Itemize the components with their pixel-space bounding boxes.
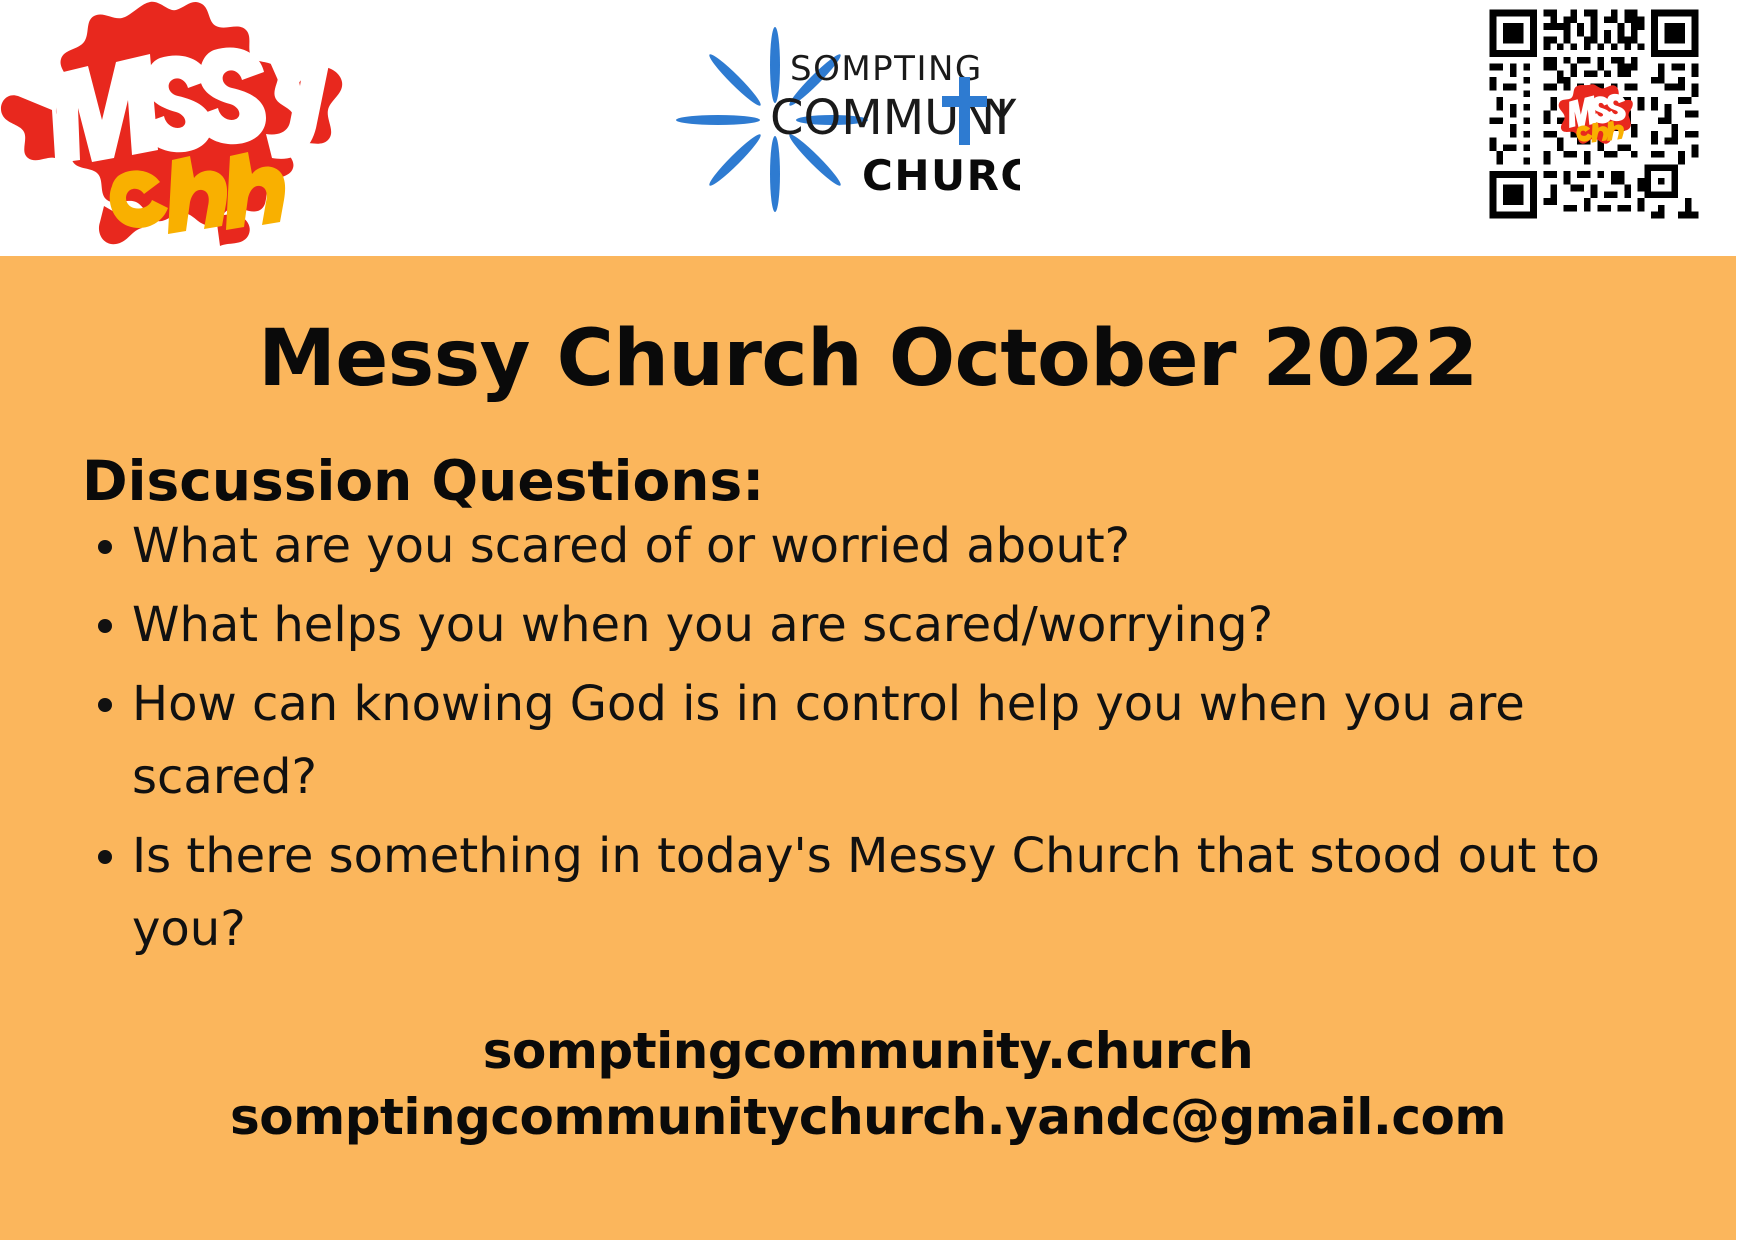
sompting-community-church-logo: SOMPTING COMMUNI Y CHURCH <box>600 22 1020 212</box>
qr-center-messy-church-logo <box>1555 83 1633 145</box>
messy-church-logo <box>0 0 345 250</box>
header-band: SOMPTING COMMUNI Y CHURCH <box>0 0 1748 256</box>
list-item: What helps you when you are scared/worry… <box>96 589 1716 662</box>
list-item: What are you scared of or worried about? <box>96 510 1716 583</box>
logo-text-y: Y <box>986 90 1017 146</box>
church-logo-graphic: SOMPTING COMMUNI Y CHURCH <box>600 22 1020 212</box>
messy-church-poster: SOMPTING COMMUNI Y CHURCH <box>0 0 1748 1240</box>
messy-church-splat-icon <box>0 0 345 250</box>
page-title: Messy Church October 2022 <box>0 320 1736 398</box>
discussion-questions-list: What are you scared of or worried about?… <box>40 510 1716 972</box>
section-heading-discussion-questions: Discussion Questions: <box>82 454 764 509</box>
logo-text-church: CHURCH <box>862 151 1020 200</box>
messy-church-mini-splat-icon <box>1555 83 1633 145</box>
logo-text-sompting: SOMPTING <box>790 49 983 89</box>
list-item: How can knowing God is in control help y… <box>96 668 1716 814</box>
email-address[interactable]: somptingcommunitychurch.yandc@gmail.com <box>0 1084 1736 1150</box>
list-item: Is there something in today's Messy Chur… <box>96 820 1716 966</box>
website-url[interactable]: somptingcommunity.church <box>0 1018 1736 1084</box>
qr-code[interactable] <box>1483 3 1705 225</box>
contact-block: somptingcommunity.church somptingcommuni… <box>0 1018 1736 1150</box>
